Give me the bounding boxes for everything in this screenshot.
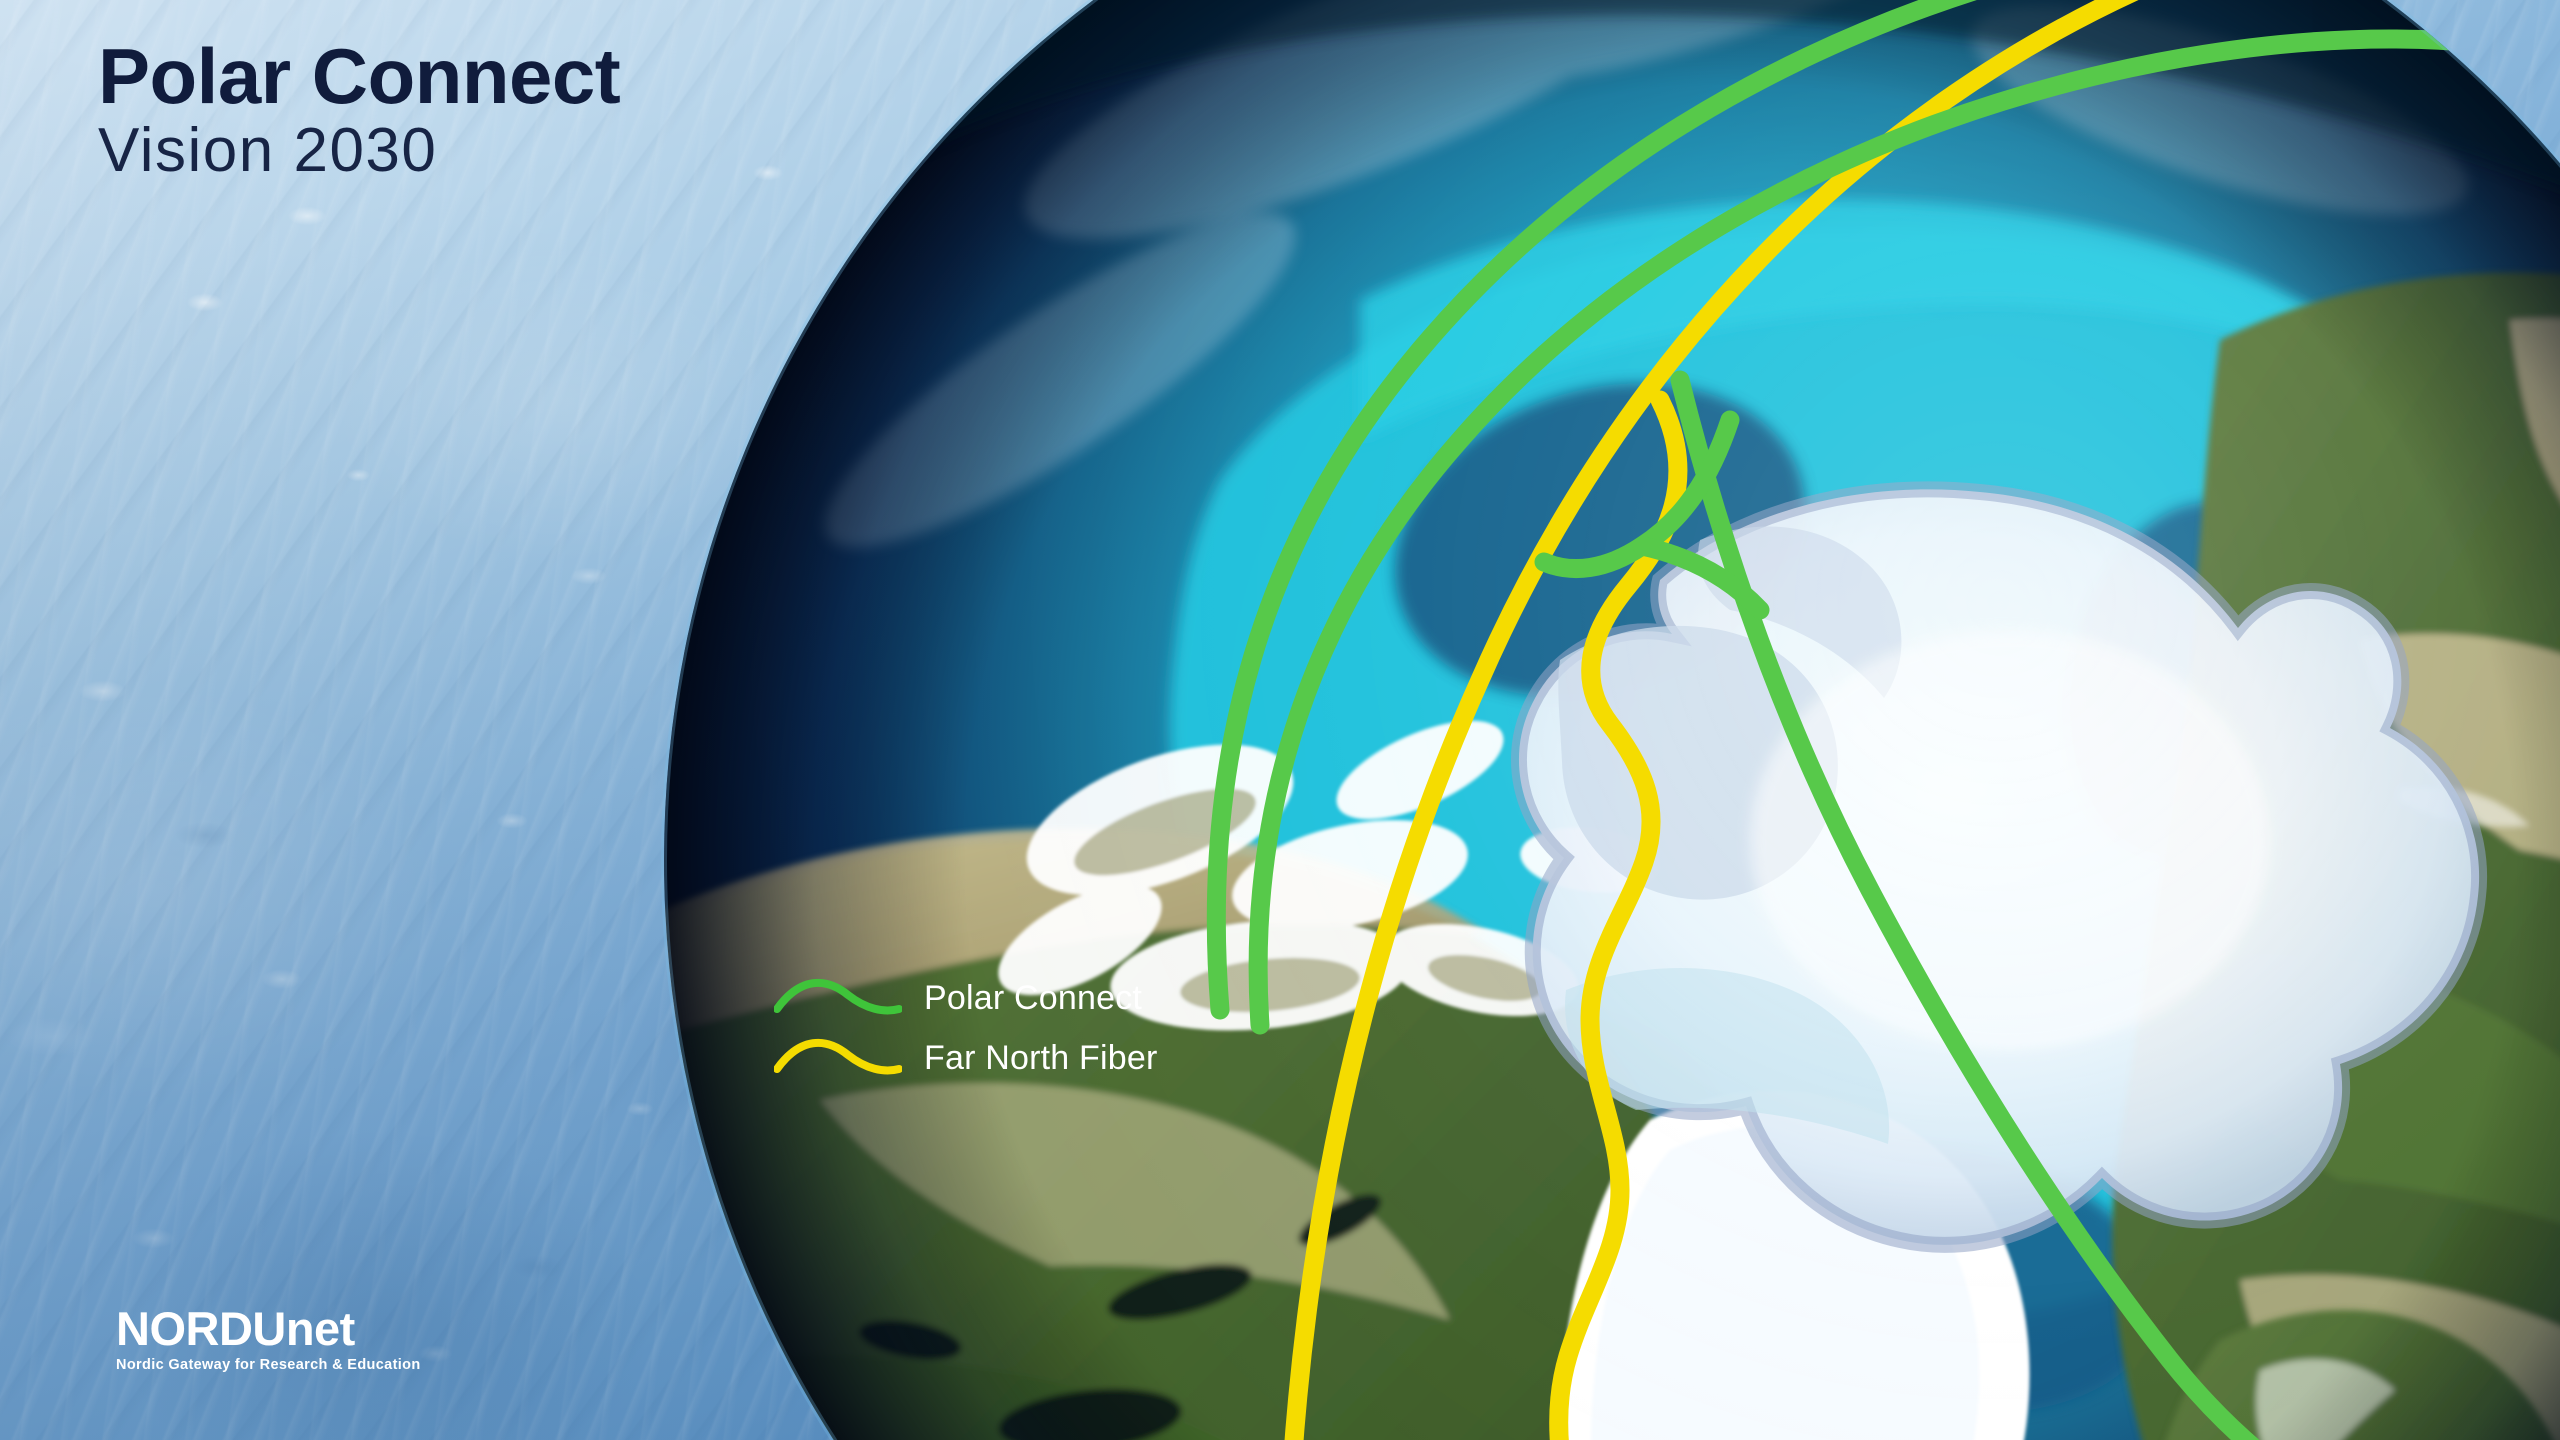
legend-item-far-north-fiber: Far North Fiber [774, 1028, 1158, 1088]
logo-wordmark: NORDUnet [116, 1305, 421, 1352]
legend-label-polar-connect: Polar Connect [924, 979, 1142, 1018]
map-legend: Polar Connect Far North Fiber [774, 968, 1158, 1088]
wave-line-green-icon [774, 975, 902, 1021]
logo-wordmark-part2: net [286, 1302, 355, 1355]
poster-canvas: Polar Connect Vision 2030 Polar Connect … [0, 0, 2560, 1440]
page-subtitle: Vision 2030 [98, 118, 620, 183]
legend-item-polar-connect: Polar Connect [774, 968, 1158, 1028]
poster-title-block: Polar Connect Vision 2030 [98, 38, 620, 184]
arctic-globe [660, 0, 2560, 1440]
wave-line-yellow-icon [774, 1035, 902, 1081]
logo-wordmark-part1: NORDU [116, 1302, 286, 1355]
logo-tagline: Nordic Gateway for Research & Education [116, 1357, 421, 1373]
page-title: Polar Connect [98, 38, 620, 114]
nordunet-logo: NORDUnet Nordic Gateway for Research & E… [116, 1305, 421, 1373]
legend-label-far-north-fiber: Far North Fiber [924, 1039, 1158, 1078]
